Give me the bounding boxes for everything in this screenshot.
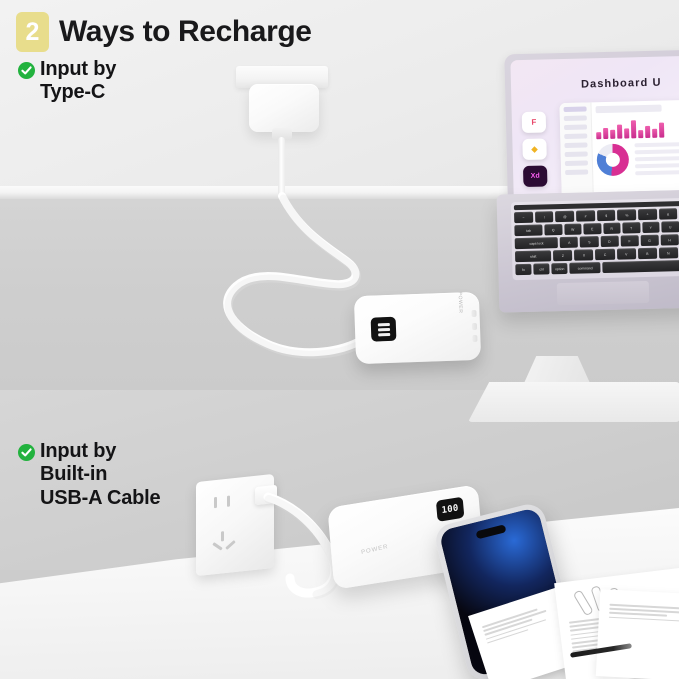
feature-line: Type-C [40, 81, 116, 104]
keyboard-key: command [570, 262, 601, 274]
dashboard-sidebar [559, 102, 593, 194]
keyboard-key: option [552, 263, 568, 274]
keyboard-key: B [638, 248, 657, 259]
keyboard-key: ~ [514, 212, 533, 223]
keyboard-key: Y [642, 222, 660, 233]
power-bank-ports-top [471, 310, 477, 342]
dashboard-bar [652, 129, 657, 138]
keyboard-key: N [659, 247, 678, 258]
dashboard-bar [659, 123, 664, 138]
feature-input-type-c: Input by Type-C [18, 58, 116, 105]
dashboard-bar [624, 128, 629, 138]
monitor-stand-base [468, 382, 679, 422]
power-bank-top: POWER [354, 292, 481, 364]
sketch-icon: ◆ [522, 138, 547, 160]
paper-clip-icon [573, 589, 594, 616]
keyboard-key: ^ [638, 209, 657, 220]
keyboard-key: G [640, 235, 658, 246]
keyboard-key: ctrl [533, 263, 549, 274]
dashboard-main [591, 99, 679, 194]
laptop-trackpad [557, 281, 650, 305]
keyboard-key: @ [555, 211, 574, 222]
dashboard-bar [596, 132, 601, 139]
keyboard-key: H [660, 234, 678, 245]
dashboard-bar [617, 125, 622, 139]
keyboard-key: & [659, 208, 678, 219]
page-header: 2 Ways to Recharge [16, 12, 312, 52]
power-bank-brand-bottom: POWER [361, 544, 389, 556]
step-number-badge: 2 [16, 12, 49, 52]
keyboard-key: $ [597, 210, 616, 221]
keyboard-key: S [580, 236, 598, 247]
keyboard-key: tab [514, 224, 542, 236]
keyboard-key: X [574, 249, 593, 260]
feature-text: Input by Built-in USB-A Cable [40, 440, 160, 510]
feature-line: Input by [40, 58, 116, 81]
laptop-base: ~!@#$%^&* tabQWERTYUI caps lockASDFGHJ s… [497, 189, 679, 312]
figma-icon: F [522, 111, 547, 133]
keyboard-key: ! [535, 211, 554, 222]
feature-line: Built-in [40, 463, 160, 486]
check-circle-icon [18, 444, 35, 461]
keyboard-key: T [622, 222, 640, 233]
keyboard-key: fn [515, 264, 531, 275]
dashboard-bar-chart [596, 115, 679, 140]
laptop: Dashboard U F ◆ Xd [498, 52, 679, 352]
keyboard-row: fnctrloptioncommand [515, 260, 679, 275]
keyboard-key: # [576, 210, 595, 221]
phone-notch [475, 524, 506, 539]
usb-a-plug [255, 485, 277, 505]
keyboard-key: % [617, 209, 636, 220]
keyboard-key: Z [553, 250, 572, 261]
page-title: Ways to Recharge [59, 15, 312, 49]
dashboard-bar [603, 128, 608, 139]
battery-percentage-display: 100 [436, 497, 465, 522]
feature-input-usb-a: Input by Built-in USB-A Cable [18, 440, 160, 510]
design-tool-icons: F ◆ Xd [522, 111, 548, 187]
keyboard-key: F [620, 235, 638, 246]
product-infographic: POWER Dashboard U F ◆ Xd [0, 0, 679, 679]
keyboard-key: shift [515, 250, 552, 262]
keyboard-key: W [564, 224, 582, 235]
keyboard-key: A [560, 237, 578, 248]
feature-text: Input by Type-C [40, 58, 116, 105]
outlet-socket-upper [210, 493, 258, 498]
adobe-xd-icon: Xd [523, 165, 548, 187]
laptop-keyboard: ~!@#$%^&* tabQWERTYUI caps lockASDFGHJ s… [511, 198, 679, 281]
feature-line: USB-A Cable [40, 487, 160, 510]
power-bank-brand-top: POWER [457, 292, 464, 314]
dashboard-list [634, 142, 679, 179]
keyboard-key: D [600, 236, 618, 247]
dashboard-bar [645, 126, 650, 138]
document-paper [596, 589, 679, 679]
feature-line: Input by [40, 440, 160, 463]
keyboard-key: Q [544, 224, 562, 235]
dashboard-donut-chart [596, 143, 629, 176]
keyboard-key [602, 260, 679, 273]
battery-display-icon [371, 317, 397, 342]
dashboard-bar [631, 120, 636, 138]
laptop-screen: Dashboard U F ◆ Xd [510, 56, 679, 195]
keyboard-key: E [583, 223, 601, 234]
dashboard-mockup [559, 99, 679, 194]
keyboard-key: R [603, 223, 621, 234]
outlet-socket-lower [210, 528, 258, 533]
check-circle-icon [18, 62, 35, 79]
keyboard-key: caps lock [515, 237, 559, 249]
screen-title: Dashboard U [581, 77, 662, 91]
keyboard-key: V [617, 248, 636, 259]
dashboard-bar [610, 130, 615, 139]
keyboard-key: U [661, 221, 679, 232]
keyboard-key: C [595, 249, 614, 260]
dashboard-bar [638, 130, 643, 138]
